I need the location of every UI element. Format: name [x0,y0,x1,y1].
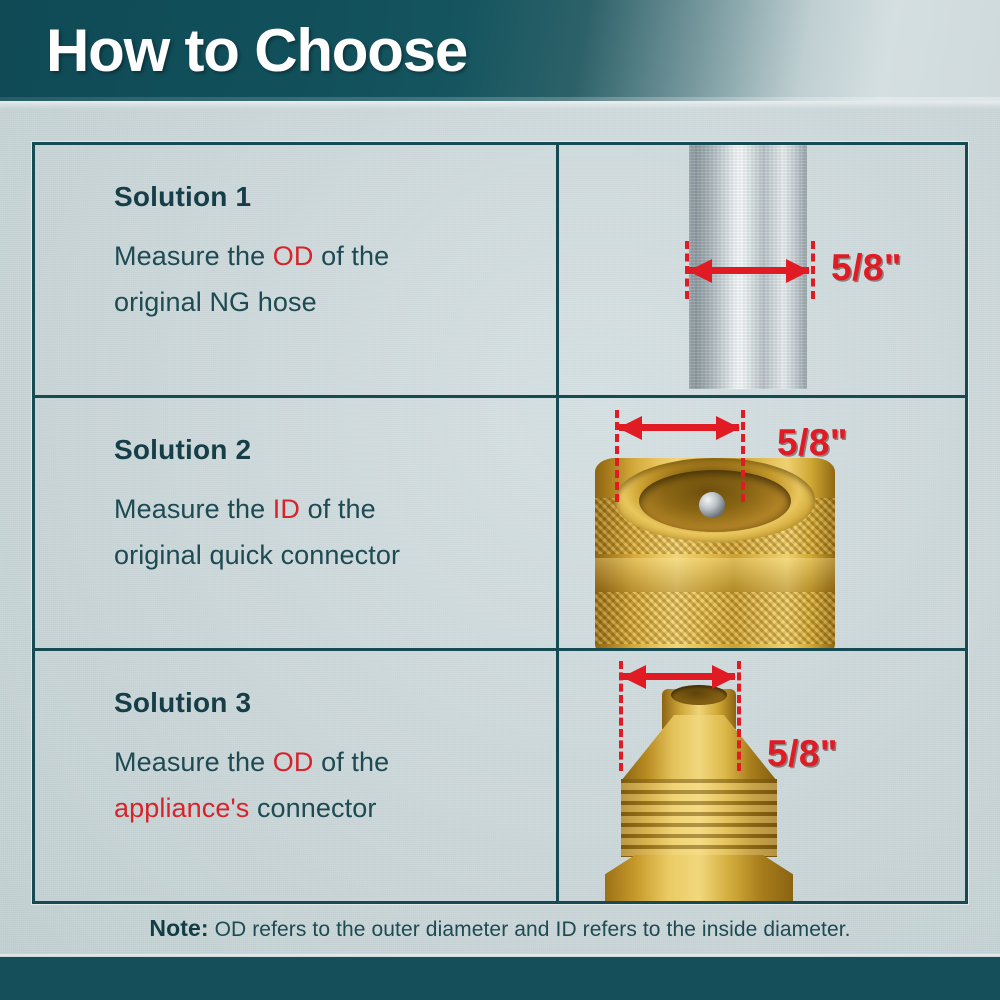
dimension-label-1: 5/8" [831,247,902,289]
header-shadow-strip [0,101,1000,109]
fitting-hex-nut [605,855,793,901]
solution-2-text-cell: Solution 2 Measure the ID of the origina… [35,398,559,648]
dimension-arrow [623,673,735,680]
solution-2-line-2: original quick connector [114,532,556,578]
solution-1-title: Solution 1 [114,181,556,213]
dimension-tick-right [737,661,741,771]
dimension-arrow [619,424,739,431]
highlight-term: appliance's [114,793,249,823]
text-pre: Measure the [114,241,273,271]
solution-3-line-2: appliance's connector [114,785,556,831]
solution-1-line-1: Measure the OD of the [114,233,556,279]
highlight-term: ID [273,494,300,524]
solution-3-title: Solution 3 [114,687,556,719]
solution-1-figure-cell: 5/8" [559,145,965,395]
page-title: How to Choose [46,16,467,85]
highlight-term: OD [273,747,314,777]
page-header: How to Choose [0,0,1000,101]
text-post: of the [314,747,390,777]
dimension-annotation-1 [685,241,815,299]
text-pre: Measure the [114,747,273,777]
text-pre: Measure the [114,494,273,524]
solution-3-line-1: Measure the OD of the [114,739,556,785]
text-post: connector [249,793,376,823]
text-pre: original quick connector [114,540,400,570]
solution-2-figure-cell: 5/8" [559,398,965,648]
solution-3-text-cell: Solution 3 Measure the OD of the applian… [35,651,559,901]
table-row: Solution 2 Measure the ID of the origina… [35,398,965,651]
dimension-annotation-2 [615,410,745,502]
text-post: of the [300,494,376,524]
note-text: OD refers to the outer diameter and ID r… [209,918,851,941]
note-row: Note: OD refers to the outer diameter an… [0,915,1000,942]
note-label: Note: [149,915,208,941]
solution-1-line-2: original NG hose [114,279,556,325]
dimension-annotation-3 [619,661,741,771]
dimension-label-3: 5/8" [767,733,838,775]
solution-3-figure-cell: 5/8" [559,651,965,901]
dimension-tick-right [811,241,815,299]
table-row: Solution 3 Measure the OD of the applian… [35,651,965,901]
dimension-arrow [689,267,809,274]
table-row: Solution 1 Measure the OD of the origina… [35,145,965,398]
solution-1-text-cell: Solution 1 Measure the OD of the origina… [35,145,559,395]
text-pre: original NG hose [114,287,317,317]
connector-knurl-lower [595,592,835,644]
dimension-tick-right [741,410,745,502]
solution-2-line-1: Measure the ID of the [114,486,556,532]
connector-band [595,558,835,592]
dimension-label-2: 5/8" [777,422,848,464]
fitting-threads [621,779,777,857]
highlight-term: OD [273,241,314,271]
footer-bar [0,957,1000,1000]
text-post: of the [314,241,390,271]
solution-2-title: Solution 2 [114,434,556,466]
solutions-table: Solution 1 Measure the OD of the origina… [32,142,968,904]
